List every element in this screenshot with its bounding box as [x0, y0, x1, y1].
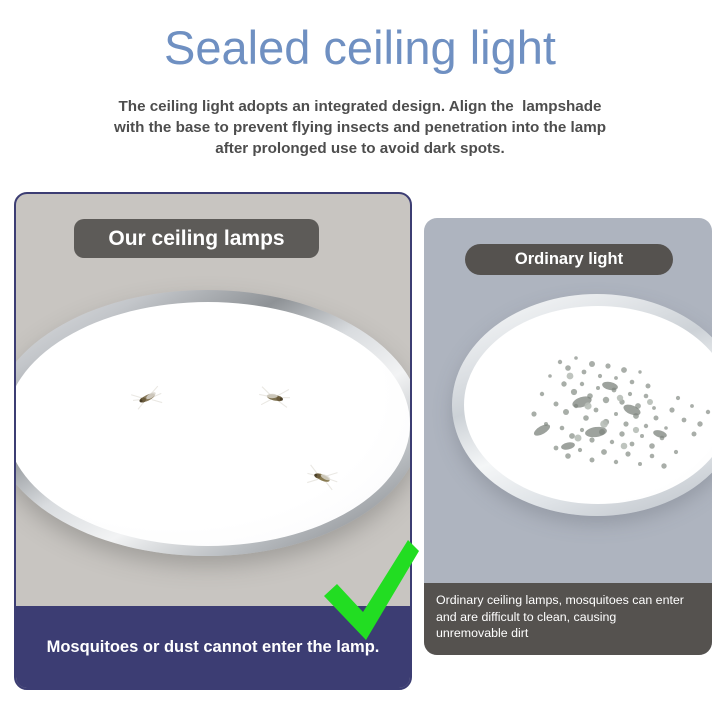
badge-our-ceiling-lamps: Our ceiling lamps: [74, 219, 319, 258]
intro-description: The ceiling light adopts an integrated d…: [66, 97, 654, 160]
badge-ordinary-light: Ordinary light: [465, 244, 673, 275]
green-checkmark-icon: [320, 540, 420, 644]
badge-right-label: Ordinary light: [515, 250, 623, 269]
right-panel-caption: Ordinary ceiling lamps, mosquitoes can e…: [424, 583, 712, 655]
mosquito-icon: [256, 382, 293, 411]
right-caption-label: Ordinary ceiling lamps, mosquitoes can e…: [436, 592, 700, 642]
page-title: Sealed ceiling light: [0, 22, 720, 74]
header: Sealed ceiling light The ceiling light a…: [0, 0, 720, 180]
badge-left-label: Our ceiling lamps: [108, 227, 284, 251]
lamp-diffuser-surface: [14, 302, 410, 546]
